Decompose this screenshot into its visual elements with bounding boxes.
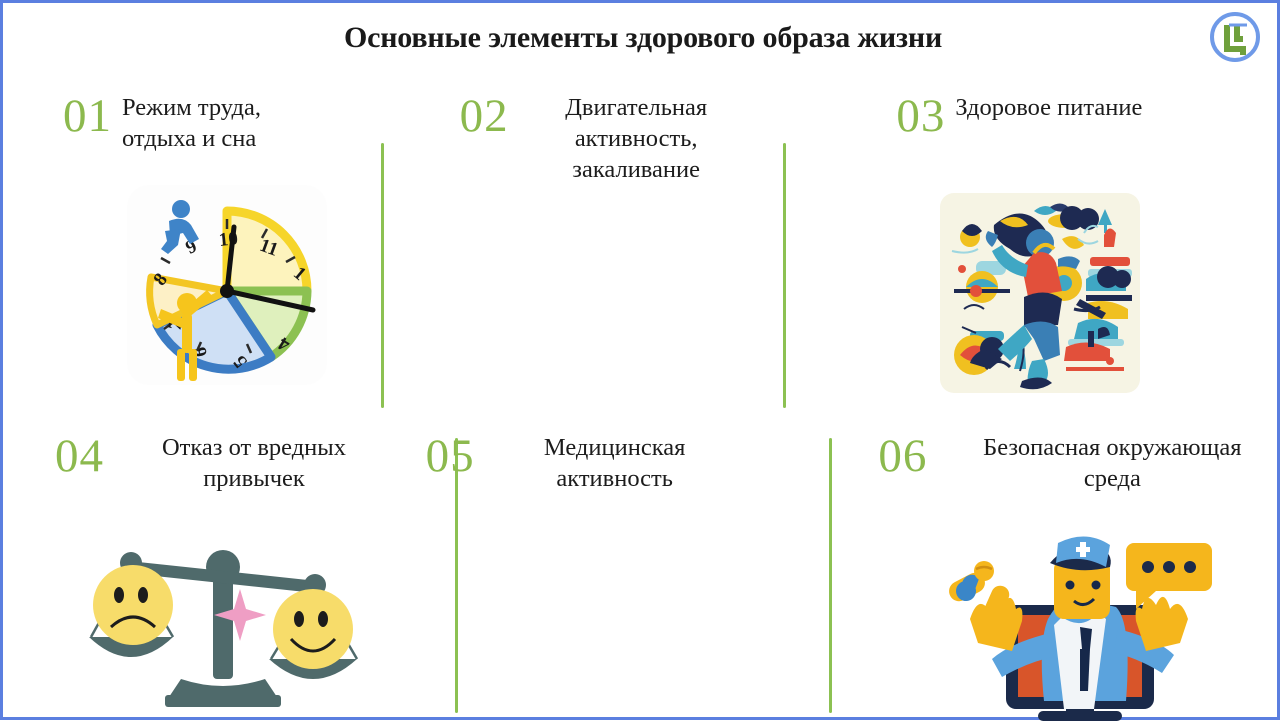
item-label-line: среда xyxy=(937,464,1280,495)
item-label: Безопасная окружающая среда xyxy=(937,433,1280,495)
item-header: 06 Безопасная окружающая среда xyxy=(878,433,1280,495)
slide-root: Основные элементы здорового образа жизни… xyxy=(0,0,1280,720)
item-label-line: отдыха и сна xyxy=(122,124,261,155)
items-row-top: 01 Режим труда, отдыха и сна xyxy=(3,81,1280,416)
item-header: 03 Здоровое питание xyxy=(896,93,1256,139)
item-number: 03 xyxy=(896,93,945,139)
item-number: 01 xyxy=(63,93,112,139)
item-label-line: Режим труда, xyxy=(122,93,261,124)
item-number: 05 xyxy=(426,433,475,479)
balance-scale-faces-icon xyxy=(81,533,371,718)
item-label-line: Двигательная xyxy=(519,93,754,124)
page-title: Основные элементы здорового образа жизни xyxy=(3,21,1280,55)
item-number: 06 xyxy=(878,433,927,479)
clock-schedule-icon: 10 11 1 9 8 7 6 5 4 xyxy=(121,179,333,391)
items-row-bottom: 04 Отказ от вредных привычек xyxy=(3,423,1280,719)
item-label: Здоровое питание xyxy=(955,93,1142,124)
item-label: Отказ от вредных привычек xyxy=(114,433,394,495)
item-label: Режим труда, отдыха и сна xyxy=(122,93,261,155)
item-label: Двигательная активность, закаливание xyxy=(519,93,754,186)
item-card-02[interactable]: 02 Двигательная активность, закаливание xyxy=(430,81,857,416)
item-header: 04 Отказ от вредных привычек xyxy=(55,433,415,495)
item-label-line: привычек xyxy=(114,464,394,495)
item-label-line: Безопасная окружающая xyxy=(937,433,1280,464)
item-header: 02 Двигательная активность, закаливание xyxy=(460,93,780,186)
item-number: 02 xyxy=(460,93,509,139)
item-label-line: закаливание xyxy=(519,155,754,186)
item-card-06[interactable]: 06 Безопасная окружающая среда xyxy=(856,423,1280,719)
item-label-line: Здоровое питание xyxy=(955,93,1142,124)
item-label-line: Отказ от вредных xyxy=(114,433,394,464)
item-card-01[interactable]: 01 Режим труда, отдыха и сна xyxy=(3,81,430,416)
item-card-03[interactable]: 03 Здоровое питание xyxy=(856,81,1280,416)
item-card-05[interactable]: 05 Медицинская активность xyxy=(430,423,857,719)
item-label-line: Медицинская xyxy=(485,433,745,464)
item-header: 01 Режим труда, отдыха и сна xyxy=(63,93,363,155)
item-number: 04 xyxy=(55,433,104,479)
item-header: 05 Медицинская активность xyxy=(426,433,776,495)
item-label-line: активность xyxy=(485,464,745,495)
item-label: Медицинская активность xyxy=(485,433,745,495)
item-card-04[interactable]: 04 Отказ от вредных привычек xyxy=(3,423,430,719)
item-label-line: активность, xyxy=(519,124,754,155)
